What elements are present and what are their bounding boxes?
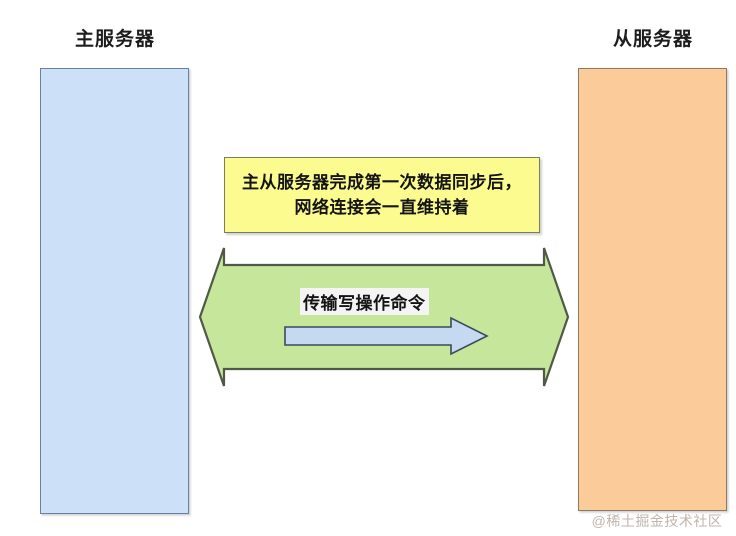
watermark-text: @稀土掘金技术社区 bbox=[578, 511, 736, 531]
transfer-command-label: 传输写操作命令 bbox=[300, 288, 429, 315]
diagram-canvas: 主服务器 从服务器 传输写操作命令 主从服务器完成第一次数据同步后， 网络连接会… bbox=[0, 0, 736, 536]
note-line-2: 网络连接会一直维持着 bbox=[295, 195, 470, 221]
write-command-arrow-shape bbox=[283, 316, 489, 356]
write-command-direction-arrow bbox=[283, 316, 489, 356]
master-server-box bbox=[40, 68, 189, 514]
note-line-1: 主从服务器完成第一次数据同步后， bbox=[242, 170, 522, 196]
slave-server-box bbox=[578, 68, 727, 511]
master-server-title: 主服务器 bbox=[40, 24, 190, 51]
slave-server-title: 从服务器 bbox=[578, 24, 728, 51]
note-callout-box: 主从服务器完成第一次数据同步后， 网络连接会一直维持着 bbox=[224, 157, 540, 233]
